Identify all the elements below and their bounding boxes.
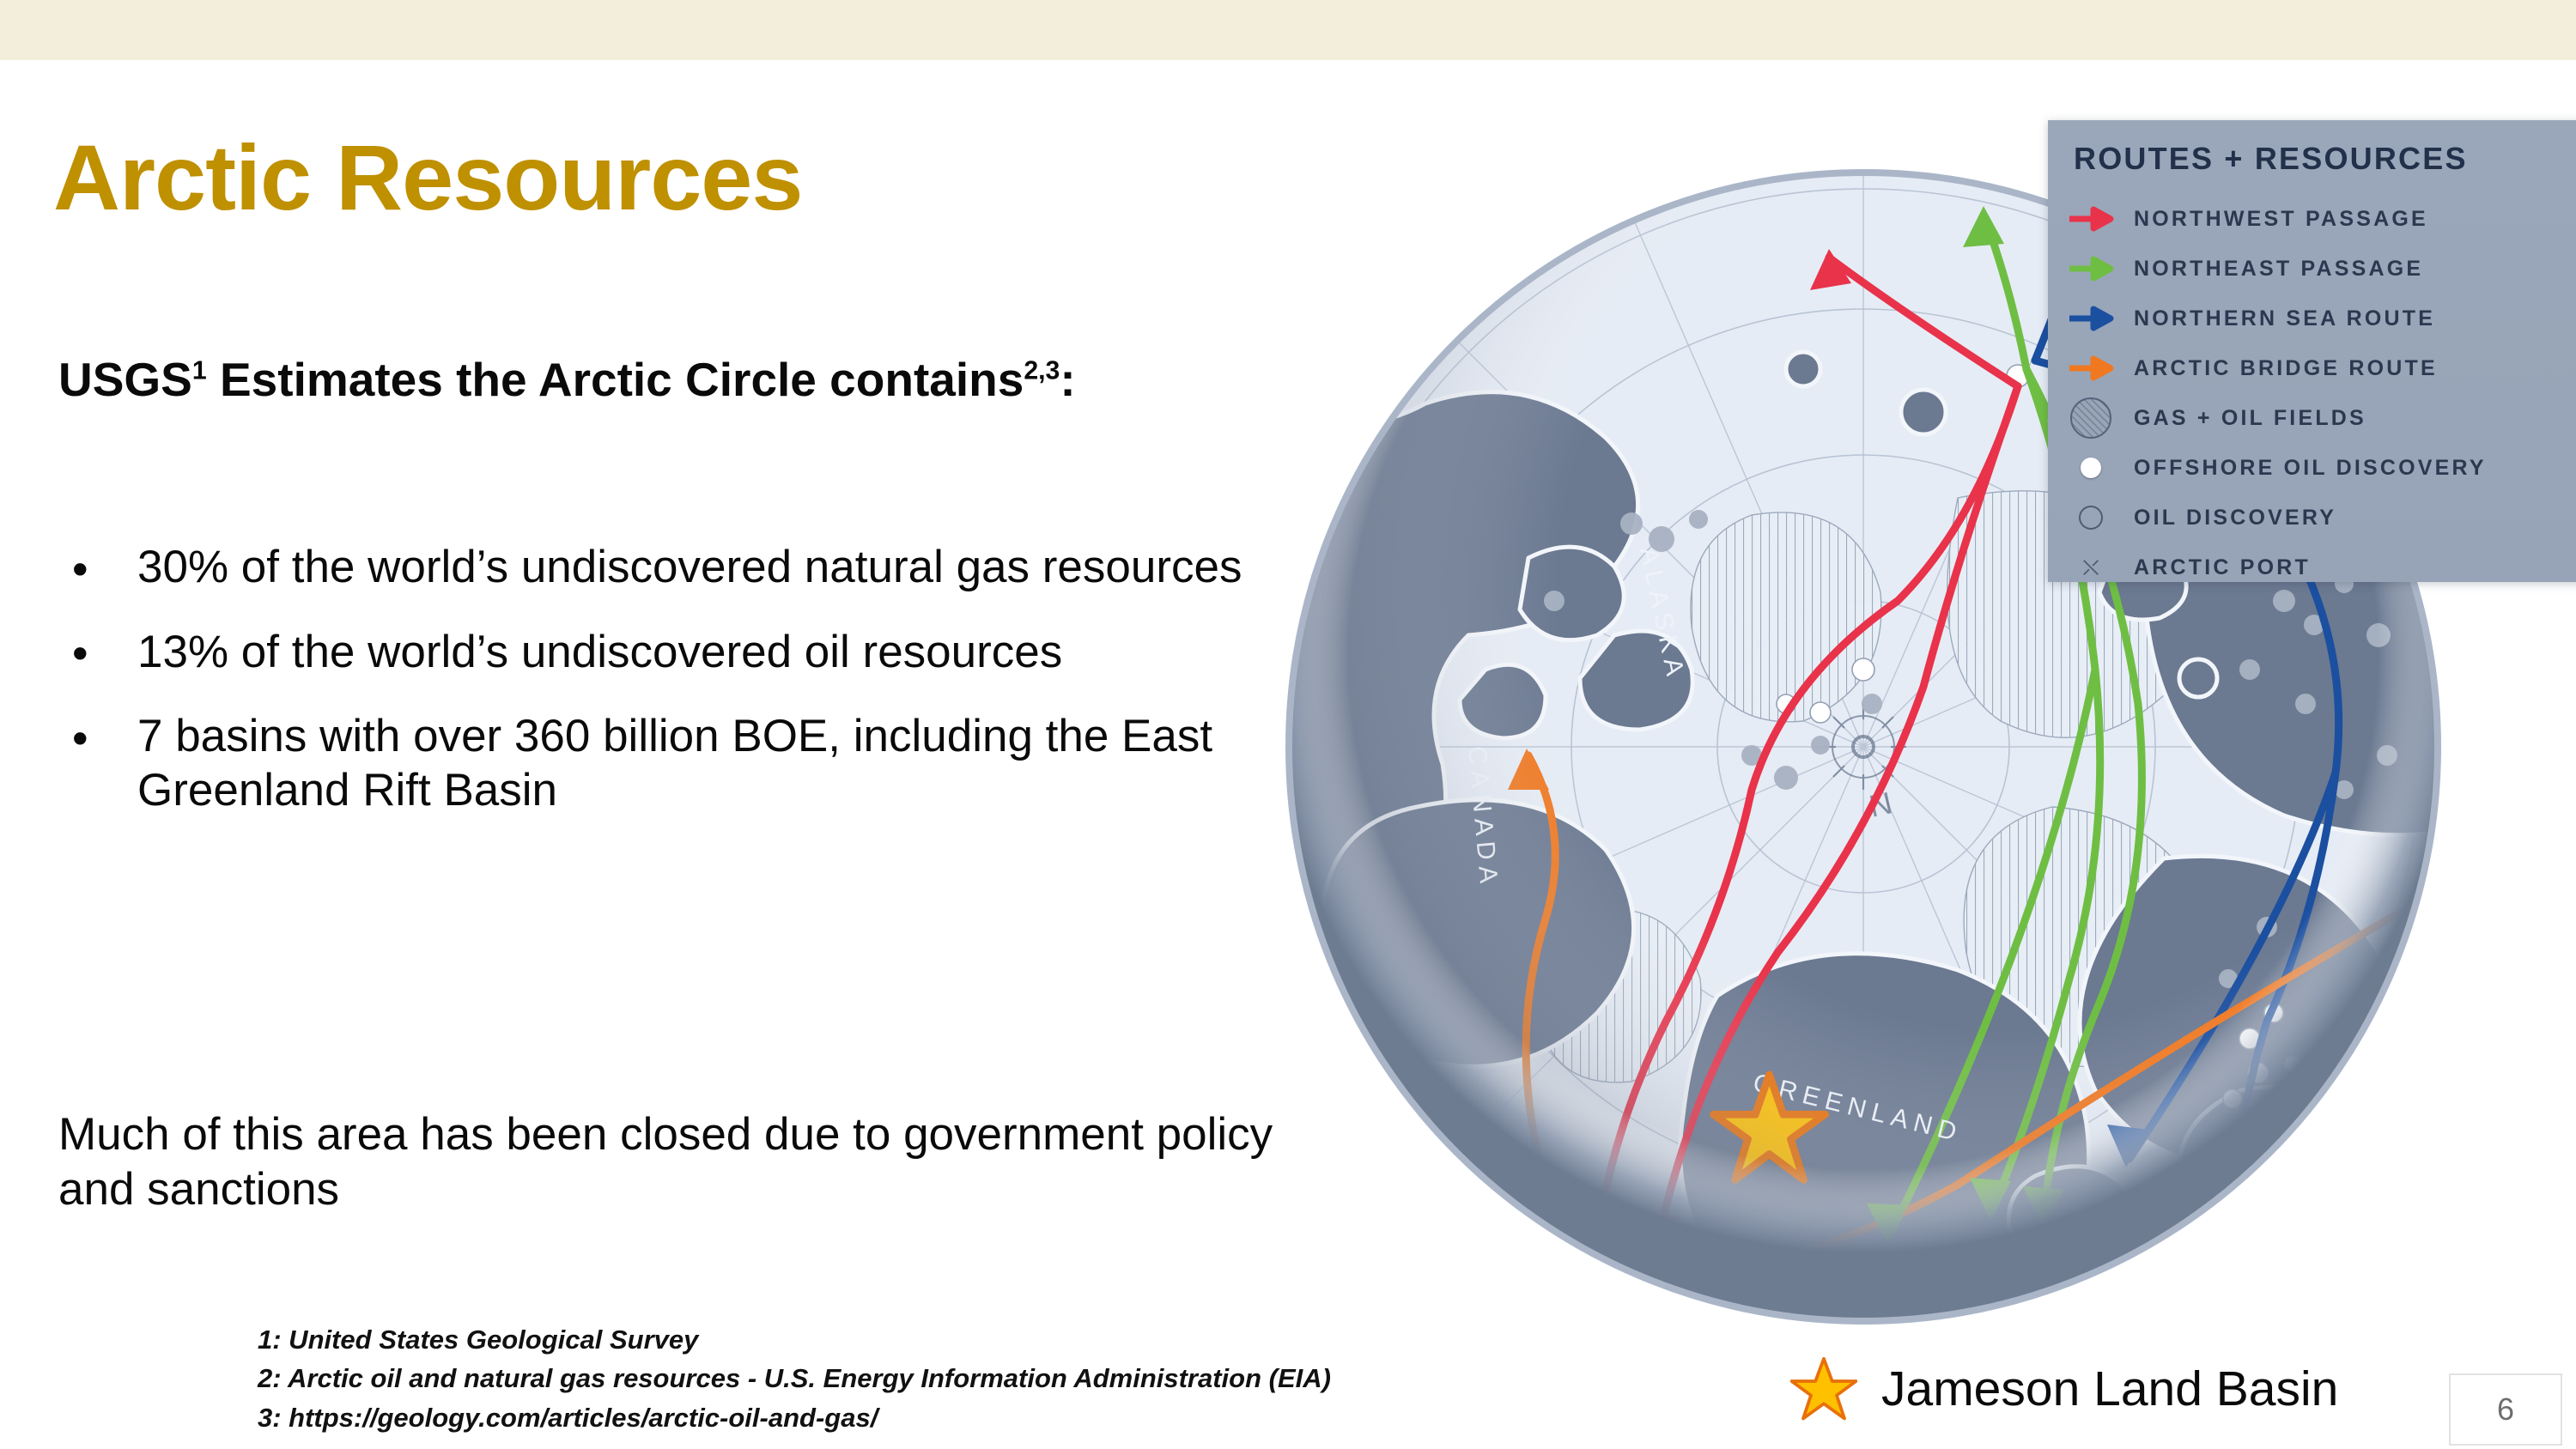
arrow-right-icon [2048,306,2134,331]
lead-suffix: : [1060,353,1075,406]
footnote-ref-23: 2,3 [1024,357,1060,385]
bullet-list: • 30% of the world’s undiscovered natura… [58,541,1278,848]
map-key-caption: Jameson Land Basin [1790,1356,2338,1422]
legend-item-label: ARCTIC PORT [2134,555,2311,580]
legend-item-label: NORTHERN SEA ROUTE [2134,306,2435,331]
open-dot-icon [2048,506,2134,530]
legend-item-northeast-passage: NORTHEAST PASSAGE [2048,244,2576,294]
legend-items: NORTHWEST PASSAGE NORTHEAST PASSAGE NORT… [2048,194,2576,592]
legend-item-arctic-bridge-route: ARCTIC BRIDGE ROUTE [2048,343,2576,393]
footnote-2: 2: Arctic oil and natural gas resources … [258,1359,1546,1397]
legend-item-northwest-passage: NORTHWEST PASSAGE [2048,194,2576,244]
legend-item-label: GAS + OIL FIELDS [2134,406,2366,431]
page-number-box: 6 [2449,1373,2562,1446]
bullet-marker-icon: • [72,543,88,597]
legend-item-oil-discovery: OIL DISCOVERY [2048,493,2576,543]
page-number: 6 [2497,1391,2514,1428]
list-item-text: 7 basins with over 360 billion BOE, incl… [137,711,1212,815]
legend-item-label: ARCTIC BRIDGE ROUTE [2134,356,2438,381]
arrow-right-icon [2048,256,2134,282]
bullet-marker-icon: • [72,627,88,682]
page-title: Arctic Resources [53,129,1212,226]
list-item-text: 13% of the world’s undiscovered oil reso… [137,627,1062,677]
closing-statement: Much of this area has been closed due to… [58,1107,1278,1216]
top-accent-band [0,0,2576,60]
legend-item-label: NORTHWEST PASSAGE [2134,207,2428,232]
legend-item-label: OIL DISCOVERY [2134,506,2336,530]
legend-item-offshore-oil-discovery: OFFSHORE OIL DISCOVERY [2048,443,2576,493]
legend-item-label: OFFSHORE OIL DISCOVERY [2134,456,2487,481]
arrow-right-icon [2048,355,2134,381]
bullet-marker-icon: • [72,712,88,767]
list-item-text: 30% of the world’s undiscovered natural … [137,542,1242,592]
arrow-right-icon [2048,206,2134,232]
lead-prefix: USGS [58,353,192,406]
slide-canvas: Arctic Resources USGS1 Estimates the Arc… [0,0,2576,1449]
port-icon: ⛌ [2048,556,2134,579]
list-item: • 13% of the world’s undiscovered oil re… [58,626,1278,680]
legend-item-gas-oil-fields: GAS + OIL FIELDS [2048,393,2576,443]
list-item: • 7 basins with over 360 billion BOE, in… [58,710,1278,817]
legend-title: ROUTES + RESOURCES [2074,141,2468,177]
lead-statement: USGS1 Estimates the Arctic Circle contai… [58,352,1209,407]
legend-item-northern-sea-route: NORTHERN SEA ROUTE [2048,294,2576,343]
hatched-circle-icon [2048,397,2134,439]
lead-middle: Estimates the Arctic Circle contains [207,353,1024,406]
footnote-3: 3: https://geology.com/articles/arctic-o… [258,1398,1546,1437]
legend-item-label: NORTHEAST PASSAGE [2134,257,2423,282]
map-key-label: Jameson Land Basin [1881,1365,2338,1414]
star-icon [1790,1356,1857,1422]
filled-dot-icon [2048,458,2134,478]
footnote-ref-1: 1 [192,357,207,385]
map-legend: ROUTES + RESOURCES NORTHWEST PASSAGE NOR… [2048,120,2576,582]
legend-item-arctic-port: ⛌ ARCTIC PORT [2048,543,2576,592]
list-item: • 30% of the world’s undiscovered natura… [58,541,1278,595]
